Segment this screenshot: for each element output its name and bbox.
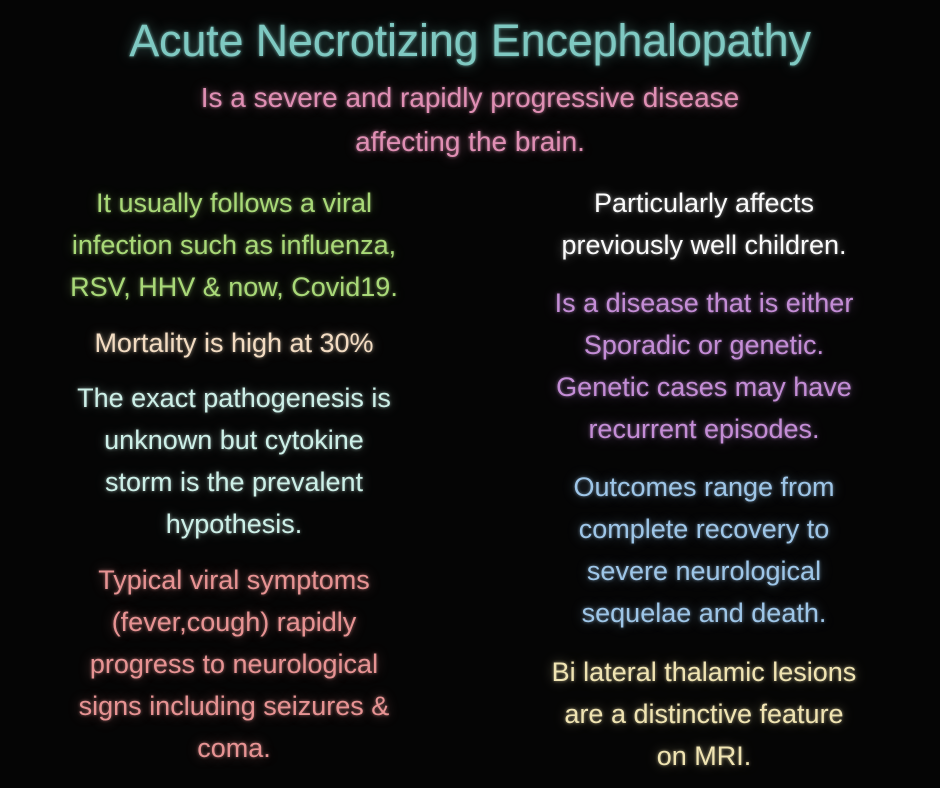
fact-block-left-2: Mortality is high at 30% (20, 322, 448, 364)
fact-line: Genetic cases may have (494, 366, 914, 408)
poster-header: Acute Necrotizing Encephalopathy Is a se… (0, 0, 940, 164)
fact-line: complete recovery to (494, 508, 914, 550)
content-columns: It usually follows a viralinfection such… (0, 182, 940, 777)
fact-line: storm is the prevalent (20, 461, 448, 503)
fact-line: Outcomes range from (494, 466, 914, 508)
fact-line: progress to neurological (20, 643, 448, 685)
fact-line: It usually follows a viral (20, 182, 448, 224)
fact-line: are a distinctive feature (494, 693, 914, 735)
fact-line: infection such as influenza, (20, 224, 448, 266)
fact-block-right-2: Is a disease that is eitherSporadic or g… (494, 282, 914, 450)
fact-block-left-3: The exact pathogenesis isunknown but cyt… (20, 377, 448, 545)
subtitle-line-1: Is a severe and rapidly progressive dise… (0, 76, 940, 120)
fact-line: Typical viral symptoms (20, 559, 448, 601)
fact-block-right-3: Outcomes range fromcomplete recovery tos… (494, 466, 914, 634)
page-title: Acute Necrotizing Encephalopathy (0, 14, 940, 68)
fact-block-left-1: It usually follows a viralinfection such… (20, 182, 448, 308)
fact-line: coma. (20, 727, 448, 769)
fact-block-right-1: Particularly affectspreviously well chil… (494, 182, 914, 266)
fact-line: unknown but cytokine (20, 419, 448, 461)
fact-line: signs including seizures & (20, 685, 448, 727)
fact-line: severe neurological (494, 550, 914, 592)
poster-subtitle: Is a severe and rapidly progressive dise… (0, 76, 940, 164)
fact-line: (fever,cough) rapidly (20, 601, 448, 643)
fact-line: Sporadic or genetic. (494, 324, 914, 366)
fact-line: Mortality is high at 30% (20, 322, 448, 364)
fact-line: Bi lateral thalamic lesions (494, 651, 914, 693)
fact-block-right-4: Bi lateral thalamic lesionsare a distinc… (494, 651, 914, 777)
fact-line: Is a disease that is either (494, 282, 914, 324)
fact-block-left-4: Typical viral symptoms(fever,cough) rapi… (20, 559, 448, 769)
right-column: Particularly affectspreviously well chil… (470, 182, 940, 777)
subtitle-line-2: affecting the brain. (0, 120, 940, 164)
fact-line: RSV, HHV & now, Covid19. (20, 266, 448, 308)
fact-line: recurrent episodes. (494, 408, 914, 450)
fact-line: hypothesis. (20, 503, 448, 545)
fact-line: on MRI. (494, 735, 914, 777)
fact-line: The exact pathogenesis is (20, 377, 448, 419)
fact-line: sequelae and death. (494, 592, 914, 634)
left-column: It usually follows a viralinfection such… (0, 182, 470, 769)
fact-line: previously well children. (494, 224, 914, 266)
fact-line: Particularly affects (494, 182, 914, 224)
infographic-poster: Acute Necrotizing Encephalopathy Is a se… (0, 0, 940, 788)
